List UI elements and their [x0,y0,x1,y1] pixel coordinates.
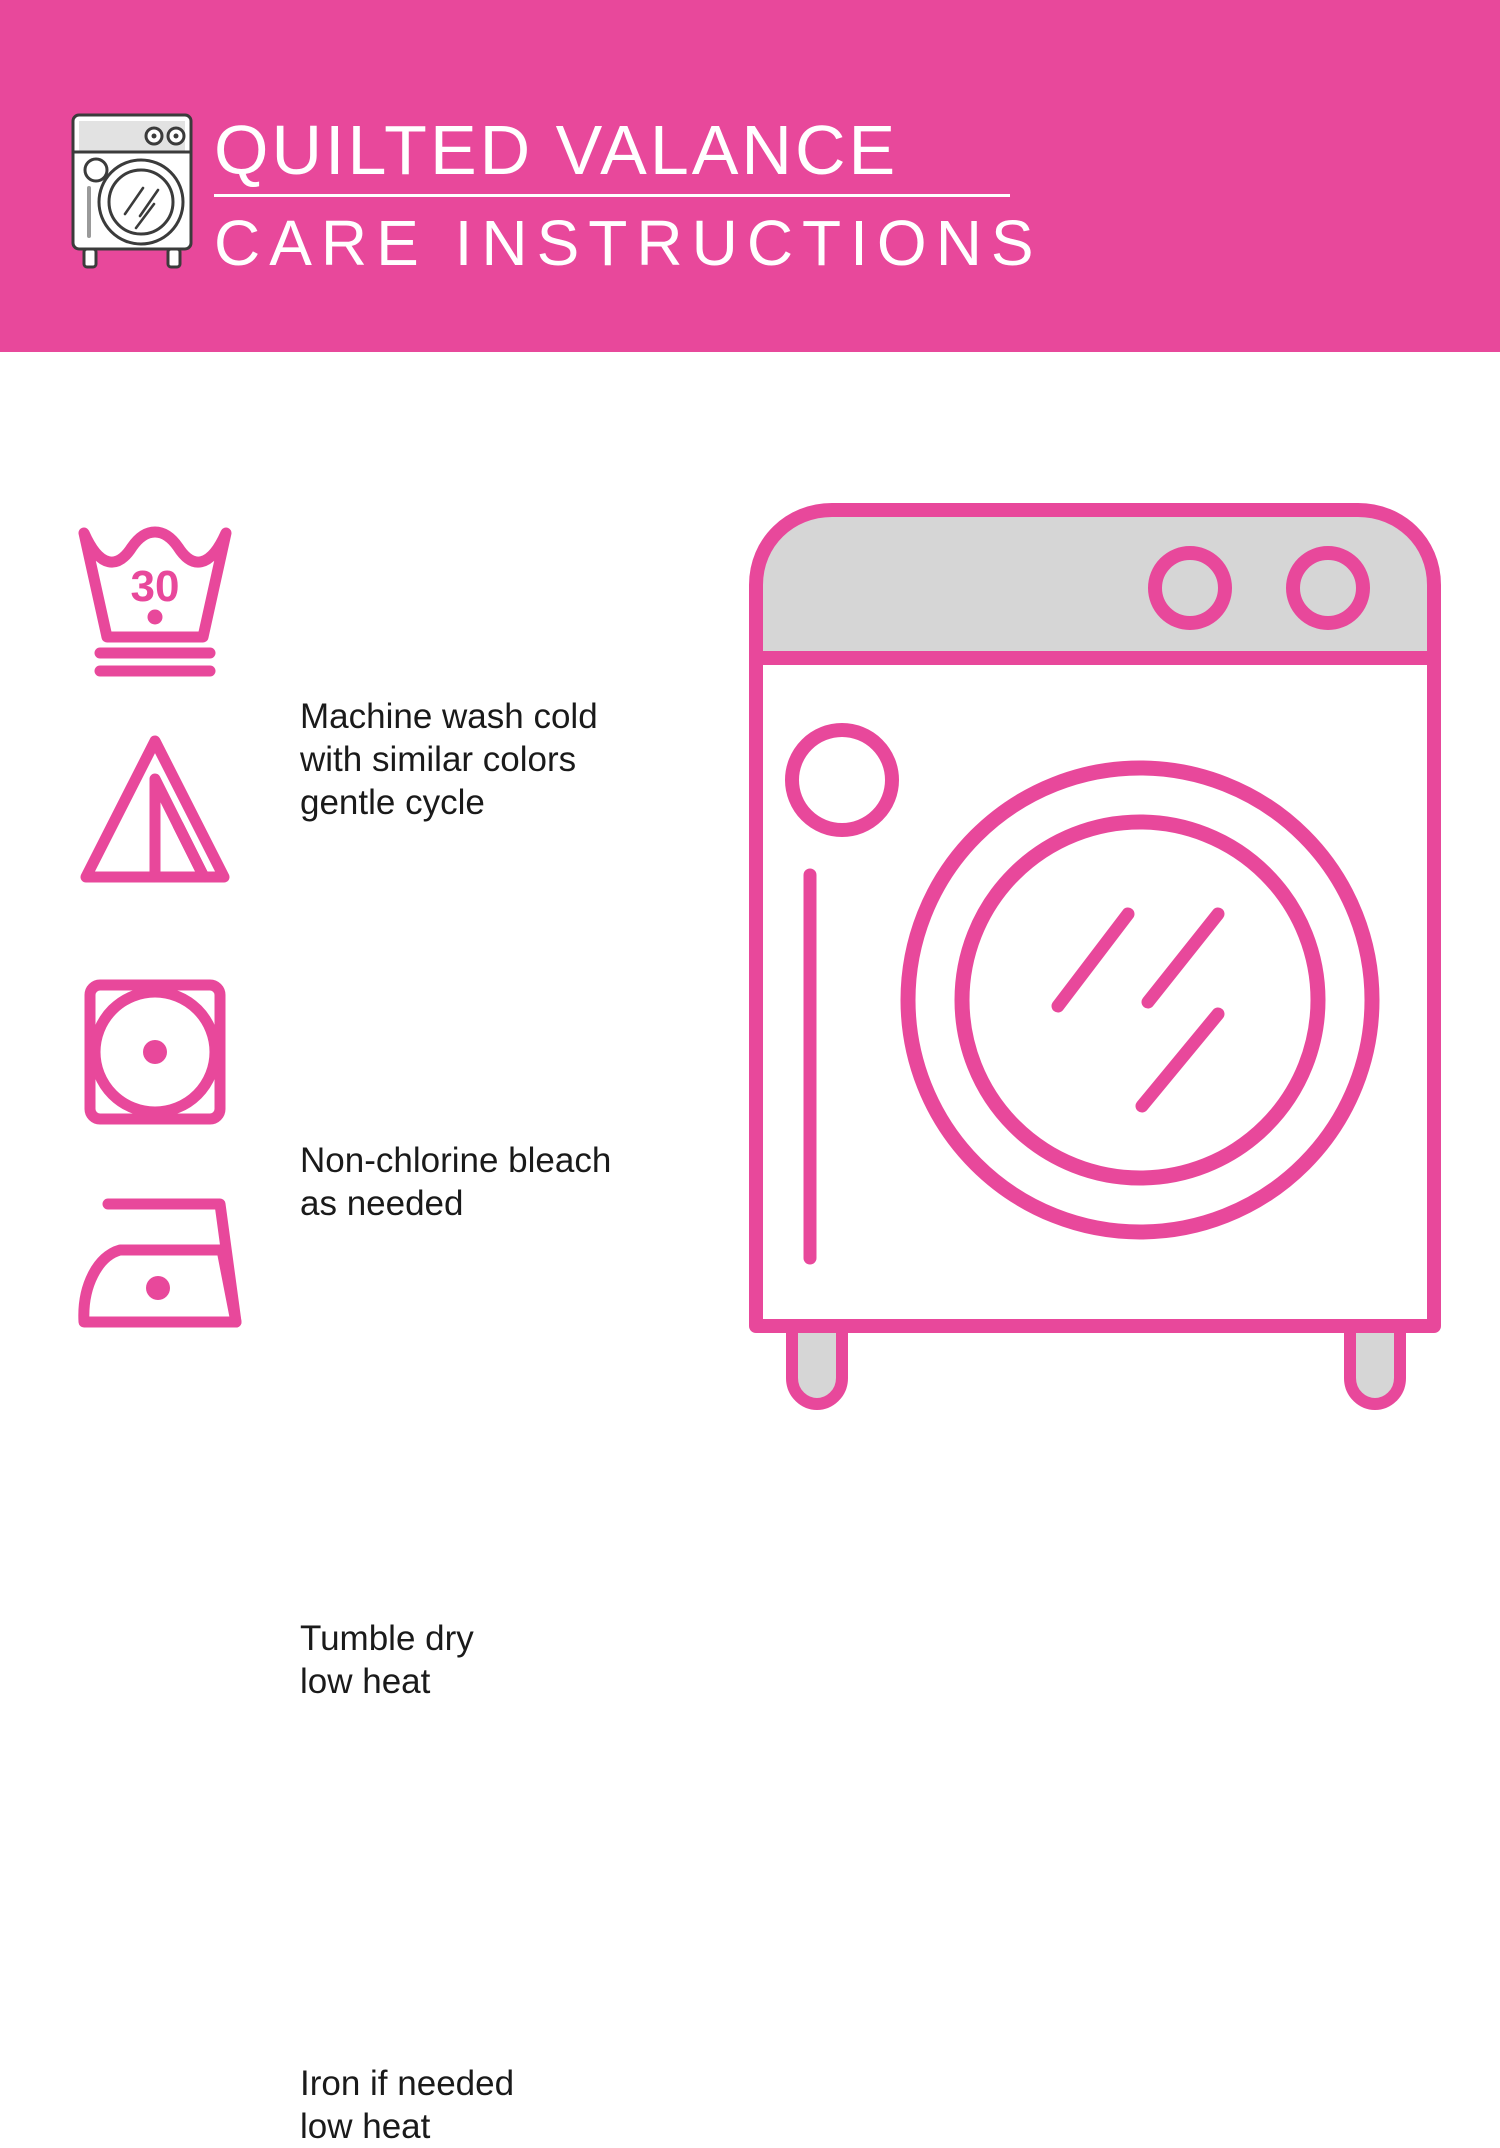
care-label-iron: Iron if needed low heat [300,2062,514,2148]
tumble-dry-low-icon [70,967,240,1137]
drum-outer-ring [908,768,1372,1232]
machine-wash-30-gentle-icon: 30 [70,517,240,687]
header-text-block: QUILTED VALANCE CARE INSTRUCTIONS [214,108,1034,283]
drum-streaks [1058,914,1218,1106]
detergent-dispenser-icon [792,730,892,830]
control-panel-fill [762,516,1428,658]
washer-foot-right [1350,1326,1400,1404]
page-title: QUILTED VALANCE [214,108,1034,192]
drum-inner-ring [962,822,1318,1178]
care-instruction-list: 30 Machine wash cold with similar colors… [0,352,700,1500]
page-subtitle: CARE INSTRUCTIONS [214,203,1034,283]
washing-machine-icon [62,104,202,272]
care-label-wash: Machine wash cold with similar colors ge… [300,695,598,824]
washer-foot-left [792,1326,842,1404]
iron-low-heat-icon [70,1190,240,1360]
title-divider [214,194,1010,197]
header-banner: QUILTED VALANCE CARE INSTRUCTIONS [0,0,1500,352]
wash-temperature-value: 30 [131,562,180,611]
care-label-bleach: Non-chlorine bleach as needed [300,1139,611,1225]
care-label-dry: Tumble dry low heat [300,1617,474,1703]
washing-machine-illustration [730,490,1460,1430]
non-chlorine-bleach-icon [70,727,240,897]
